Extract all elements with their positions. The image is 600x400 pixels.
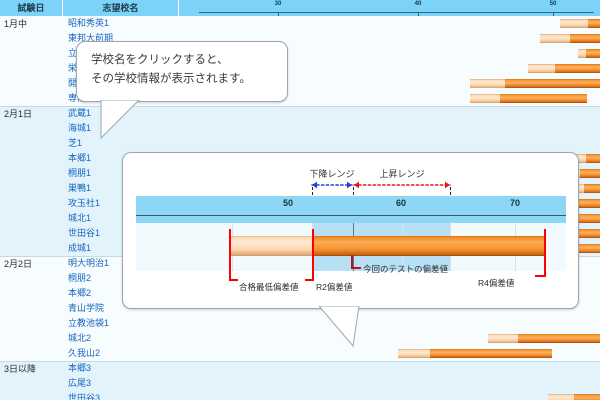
school-name-link[interactable]: 本郷3 xyxy=(68,361,91,376)
marker-r2 xyxy=(312,229,314,281)
panel-axis-line xyxy=(136,215,566,216)
deviation-bar xyxy=(560,19,600,28)
bar-dark-segment xyxy=(430,349,552,358)
callout-current: 今回のテストの偏差値 xyxy=(363,263,448,275)
table-row: 本郷3 xyxy=(0,361,600,376)
schedule-chart-app: 試験日 志望校名 304050 1月中昭和秀英1東邦大前期立教新座1栄東A開智先… xyxy=(0,0,600,400)
deviation-bar xyxy=(548,394,600,400)
deviation-axis: 304050 xyxy=(179,0,600,16)
bar-light-segment xyxy=(548,394,574,400)
deviation-bar xyxy=(398,349,552,358)
panel-axis-label: 60 xyxy=(396,198,406,208)
school-name-link[interactable]: 桐朋2 xyxy=(68,271,91,286)
school-name-link[interactable]: 昭和秀英1 xyxy=(68,16,109,31)
header-date-column: 試験日 xyxy=(0,0,62,16)
bar-dark-segment xyxy=(555,64,600,73)
deviation-bar xyxy=(470,94,587,103)
school-name-link[interactable]: 世田谷3 xyxy=(68,391,100,400)
callout-r4: R4偏差値 xyxy=(478,277,514,289)
table-row: 広尾3 xyxy=(0,376,600,391)
header-school-column: 志望校名 xyxy=(63,0,178,16)
panel-axis-label: 70 xyxy=(510,198,520,208)
school-name-link[interactable]: 攻玉社1 xyxy=(68,196,100,211)
bar-dark-segment xyxy=(500,94,587,103)
school-name-link[interactable]: 世田谷1 xyxy=(68,226,100,241)
hint-line-1: 学校名をクリックすると、 xyxy=(91,51,229,70)
hint-line-2: その学校情報が表示されます。 xyxy=(91,70,251,89)
axis-tick-label: 50 xyxy=(550,1,557,7)
school-name-link[interactable]: 広尾3 xyxy=(68,376,91,391)
marker-r4 xyxy=(544,229,546,277)
school-name-link[interactable]: 城北2 xyxy=(68,331,91,346)
hook-min-pass xyxy=(229,279,238,281)
school-name-link[interactable]: 芝1 xyxy=(68,136,82,151)
school-name-link[interactable]: 武蔵1 xyxy=(68,106,91,121)
school-name-link[interactable]: 本郷2 xyxy=(68,286,91,301)
bar-light-segment xyxy=(540,34,570,43)
panel-deviation-bar xyxy=(230,236,546,254)
bar-dark-segment xyxy=(580,169,600,178)
hook-current xyxy=(351,267,361,269)
table-row: 武蔵1 xyxy=(0,106,600,121)
deviation-bar xyxy=(528,64,600,73)
callout-r2: R2偏差値 xyxy=(316,281,352,293)
panel-bar-dark-segment xyxy=(312,236,546,256)
table-row: 立教池袋1 xyxy=(0,316,600,331)
deviation-bar xyxy=(470,79,600,88)
marker-min-pass xyxy=(229,229,231,281)
bar-dark-segment xyxy=(586,154,600,163)
bar-light-segment xyxy=(488,334,518,343)
bar-dark-segment xyxy=(570,34,600,43)
callout-min-pass: 合格最低偏差値 xyxy=(239,281,299,293)
school-name-link[interactable]: 巣鴨1 xyxy=(68,181,91,196)
table-row: 世田谷3 xyxy=(0,391,600,400)
bar-light-segment xyxy=(470,79,505,88)
hook-r4 xyxy=(535,275,546,277)
bar-dark-segment xyxy=(574,394,600,400)
tooltip-tail xyxy=(99,100,143,140)
school-name-link[interactable]: 明大明治1 xyxy=(68,256,109,271)
panel-axis-label: 50 xyxy=(283,198,293,208)
table-row: 城北2 xyxy=(0,331,600,346)
school-name-link[interactable]: 海城1 xyxy=(68,121,91,136)
detail-panel: 下降レンジ 上昇レンジ xyxy=(122,152,579,309)
bar-dark-segment xyxy=(584,184,600,193)
bar-dark-segment xyxy=(505,79,600,88)
deviation-bar xyxy=(488,334,600,343)
table-header: 試験日 志望校名 304050 xyxy=(0,0,600,16)
bar-dark-segment xyxy=(518,334,600,343)
axis-tick-label: 40 xyxy=(415,1,422,7)
bar-light-segment xyxy=(398,349,430,358)
panel-axis-band-lower xyxy=(136,219,566,223)
table-row: 海城1 xyxy=(0,121,600,136)
bar-light-segment xyxy=(470,94,500,103)
school-name-link[interactable]: 桐朋1 xyxy=(68,166,91,181)
bar-dark-segment xyxy=(588,19,600,28)
table-row: 久我山2 xyxy=(0,346,600,361)
school-name-link[interactable]: 久我山2 xyxy=(68,346,100,361)
axis-line xyxy=(199,12,594,13)
bar-light-segment xyxy=(578,49,586,58)
date-group: 3日以降本郷3広尾3世田谷3学習院3 xyxy=(0,361,600,400)
school-name-link[interactable]: 城北1 xyxy=(68,211,91,226)
table-row: 昭和秀英1 xyxy=(0,16,600,31)
school-name-link[interactable]: 青山学院 xyxy=(68,301,104,316)
panel-tail xyxy=(313,306,373,348)
table-row: 芝1 xyxy=(0,136,600,151)
bar-dark-segment xyxy=(578,214,600,223)
school-name-link[interactable]: 本郷1 xyxy=(68,151,91,166)
school-name-link[interactable]: 成城1 xyxy=(68,241,91,256)
deviation-bar xyxy=(578,49,600,58)
panel-bar-light-segment xyxy=(230,236,312,256)
axis-tick-label: 30 xyxy=(275,1,282,7)
bar-light-segment xyxy=(560,19,588,28)
hook-r2 xyxy=(305,279,314,281)
bar-dark-segment xyxy=(586,49,600,58)
deviation-bar xyxy=(540,34,600,43)
bar-light-segment xyxy=(528,64,555,73)
hint-tooltip: 学校名をクリックすると、 その学校情報が表示されます。 xyxy=(76,41,288,102)
school-name-link[interactable]: 立教池袋1 xyxy=(68,316,109,331)
